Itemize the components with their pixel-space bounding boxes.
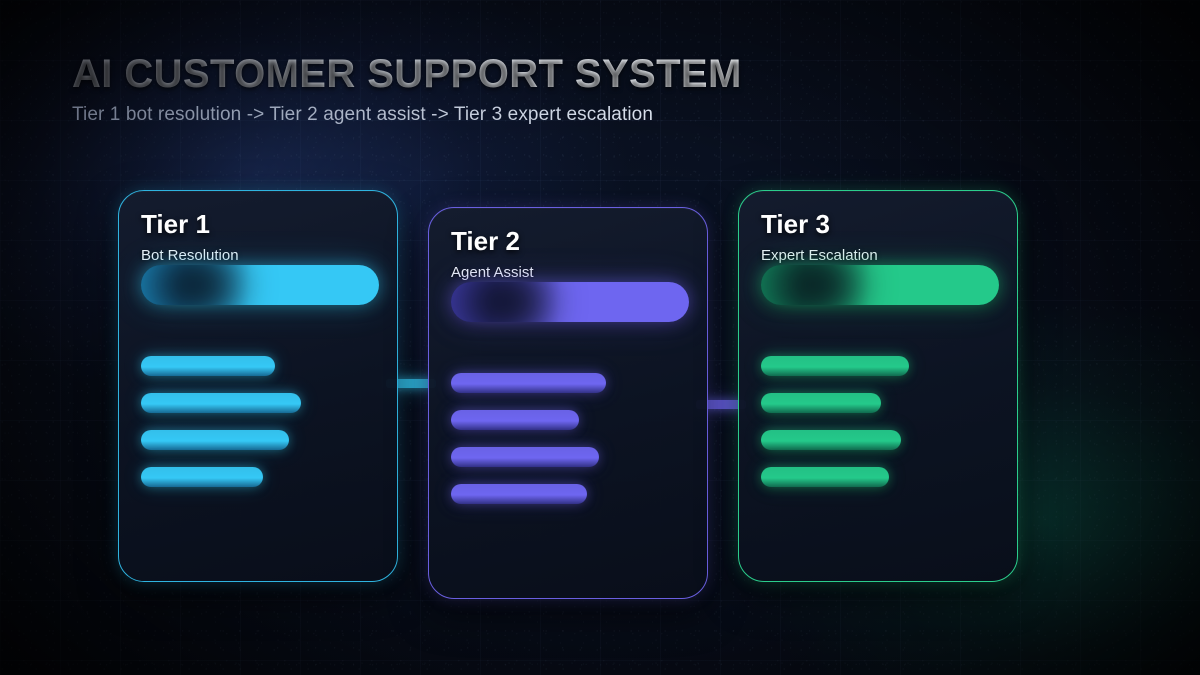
header: AI CUSTOMER SUPPORT SYSTEM Tier 1 bot re… <box>72 52 742 126</box>
card-header: Tier 3Expert Escalation <box>761 211 878 264</box>
card-bar[interactable] <box>761 467 889 487</box>
card-title: Tier 3 <box>761 211 878 238</box>
page-subtitle: Tier 1 bot resolution -> Tier 2 agent as… <box>72 104 742 126</box>
card-header: Tier 1Bot Resolution <box>141 211 239 264</box>
card-bar[interactable] <box>141 467 263 487</box>
tier-card-3[interactable]: Tier 3Expert Escalation <box>738 190 1018 582</box>
card-bar[interactable] <box>761 393 881 413</box>
card-title: Tier 1 <box>141 211 239 238</box>
page-title: AI CUSTOMER SUPPORT SYSTEM <box>72 52 742 97</box>
card-bar[interactable] <box>141 356 275 376</box>
hero-bar-highlight <box>141 265 265 305</box>
card-bar[interactable] <box>141 430 289 450</box>
card-hero-bar[interactable] <box>141 265 379 305</box>
card-bar[interactable] <box>761 430 901 450</box>
card-header: Tier 2Agent Assist <box>451 228 534 281</box>
card-bar[interactable] <box>761 356 909 376</box>
card-bar[interactable] <box>451 410 579 430</box>
tier-card-2[interactable]: Tier 2Agent Assist <box>428 207 708 599</box>
card-hero-bar[interactable] <box>761 265 999 305</box>
hero-bar-highlight <box>451 282 575 322</box>
card-subtitle: Expert Escalation <box>761 247 878 264</box>
card-bar[interactable] <box>141 393 301 413</box>
card-title: Tier 2 <box>451 228 534 255</box>
card-bar[interactable] <box>451 447 599 467</box>
hero-bar-highlight <box>761 265 885 305</box>
card-hero-bar[interactable] <box>451 282 689 322</box>
slide-canvas: AI CUSTOMER SUPPORT SYSTEM Tier 1 bot re… <box>0 0 1200 675</box>
card-subtitle: Agent Assist <box>451 264 534 281</box>
tier-card-1[interactable]: Tier 1Bot Resolution <box>118 190 398 582</box>
card-subtitle: Bot Resolution <box>141 247 239 264</box>
card-bar[interactable] <box>451 484 587 504</box>
card-bar[interactable] <box>451 373 606 393</box>
